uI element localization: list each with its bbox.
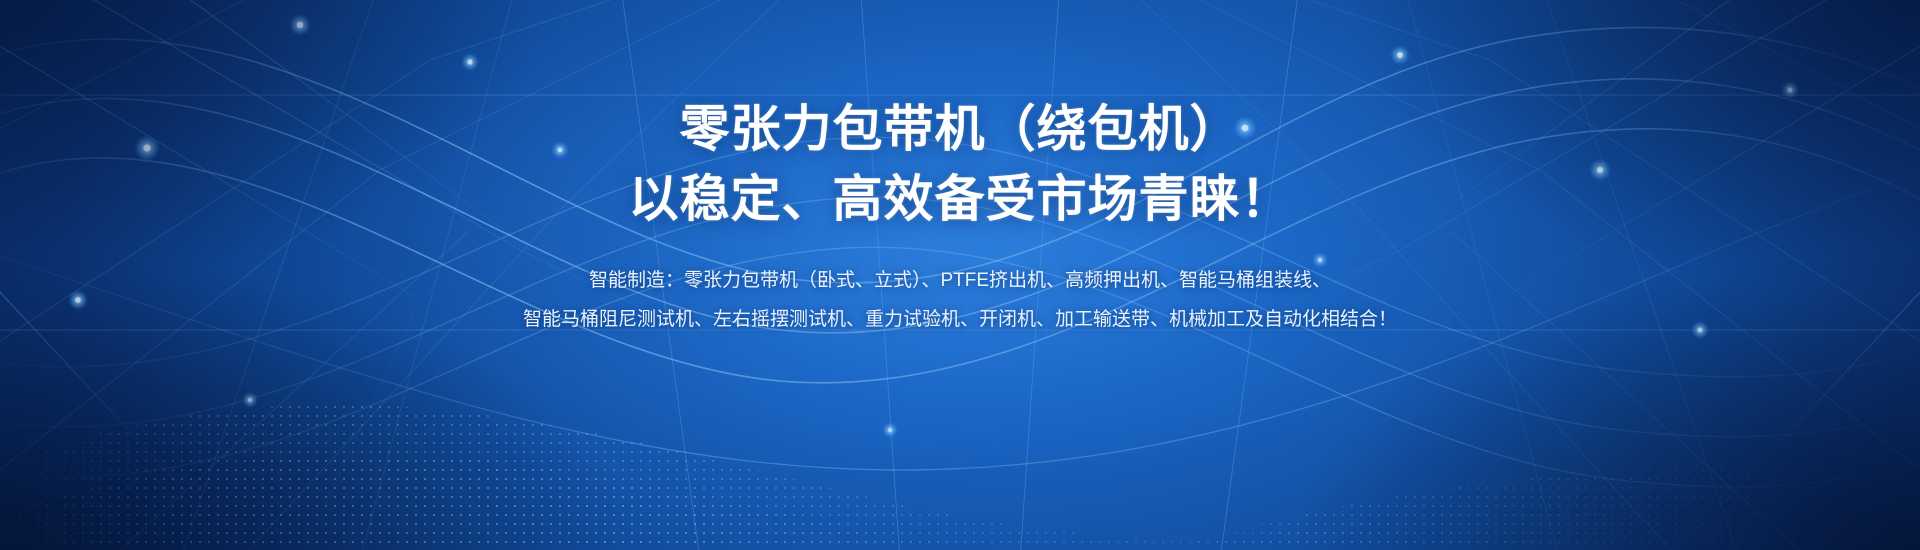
banner-headline: 零张力包带机（绕包机） 以稳定、高效备受市场青睐！	[629, 96, 1292, 232]
banner-subtitle: 智能制造：零张力包带机（卧式、立式）、PTFE挤出机、高频押出机、智能马桶组装线…	[523, 262, 1397, 340]
subtitle-line-2: 智能马桶阻尼测试机、左右摇摆测试机、重力试验机、开闭机、加工输送带、机械加工及自…	[523, 301, 1397, 340]
hero-banner: 零张力包带机（绕包机） 以稳定、高效备受市场青睐！ 智能制造：零张力包带机（卧式…	[0, 0, 1920, 550]
headline-line-2: 以稳定、高效备受市场青睐！	[629, 166, 1292, 232]
headline-line-1: 零张力包带机（绕包机）	[680, 101, 1241, 157]
subtitle-line-1: 智能制造：零张力包带机（卧式、立式）、PTFE挤出机、高频押出机、智能马桶组装线…	[523, 262, 1397, 301]
banner-content: 零张力包带机（绕包机） 以稳定、高效备受市场青睐！ 智能制造：零张力包带机（卧式…	[0, 0, 1920, 550]
